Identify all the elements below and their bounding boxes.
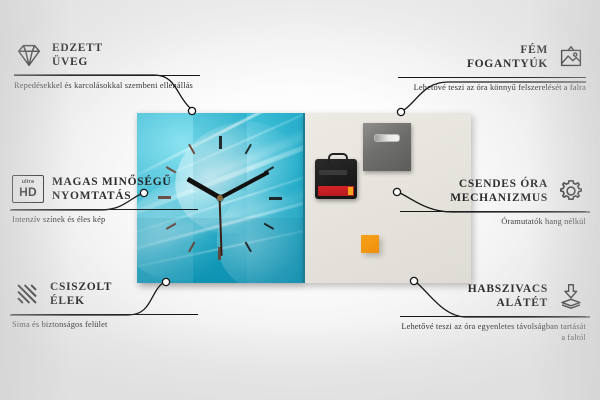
callout-desc-foam: Lehetővé teszi az óra egyenletes távolsá… [400, 321, 586, 344]
foam-spacer-pad [361, 235, 379, 253]
callout-desc-mechanism: Óramutatók hang nélkül [400, 216, 586, 227]
callout-title-foam: HABSZIVACS ALÁTÉT [468, 282, 548, 310]
callout-title-mechanism: CSENDES ÓRA MECHANIZMUS [450, 177, 548, 205]
callout-quiet-mechanism: CSENDES ÓRA MECHANIZMUS Óramutatók hang … [400, 174, 586, 227]
ultra-hd-icon: ultra HD [12, 175, 44, 203]
clock-second-hand [219, 198, 223, 256]
callout-desc-edges: Sima és biztonságos felület [12, 319, 198, 330]
callout-desc-tempered-glass: Repedésekkel és karcolásokkal szembeni e… [14, 80, 200, 91]
picture-hanger-icon [556, 42, 586, 72]
callout-tempered-glass: EDZETT ÜVEG Repedésekkel és karcolásokka… [14, 38, 200, 91]
callout-title-edges: CSISZOLT ÉLEK [50, 280, 112, 308]
metal-hanger-plate [363, 123, 411, 171]
clock-mechanism-box [315, 159, 357, 199]
callout-desc-print: Intenzív színek és éles kép [12, 214, 198, 225]
callout-divider [14, 75, 200, 76]
polished-edges-icon [12, 279, 42, 309]
callout-foam-pad: HABSZIVACS ALÁTÉT Lehetővé teszi az óra … [400, 279, 586, 344]
foam-pad-arrow-icon [556, 281, 586, 311]
callout-divider [400, 316, 586, 317]
callout-desc-handles: Lehetővé teszi az óra könnyű felszerelés… [398, 82, 586, 93]
callout-divider [398, 77, 586, 78]
callout-polished-edges: CSISZOLT ÉLEK Sima és biztonságos felüle… [12, 277, 198, 330]
callout-divider [12, 209, 198, 210]
gear-icon [556, 176, 586, 206]
callout-metal-handles: FÉM FOGANTYÚK Lehetővé teszi az óra könn… [398, 40, 586, 93]
infographic-canvas: EDZETT ÜVEG Repedésekkel és karcolásokka… [0, 0, 600, 400]
clock-center-pivot [217, 195, 223, 201]
callout-divider [400, 211, 586, 212]
callout-title-tempered-glass: EDZETT ÜVEG [52, 41, 103, 69]
callout-title-handles: FÉM FOGANTYÚK [467, 43, 548, 71]
diamond-icon [14, 40, 44, 70]
callout-title-print: MAGAS MINŐSÉGŰ NYOMTATÁS [52, 175, 171, 203]
callout-divider [12, 314, 198, 315]
callout-high-quality-print: ultra HD MAGAS MINŐSÉGŰ NYOMTATÁS Intenz… [12, 172, 198, 225]
